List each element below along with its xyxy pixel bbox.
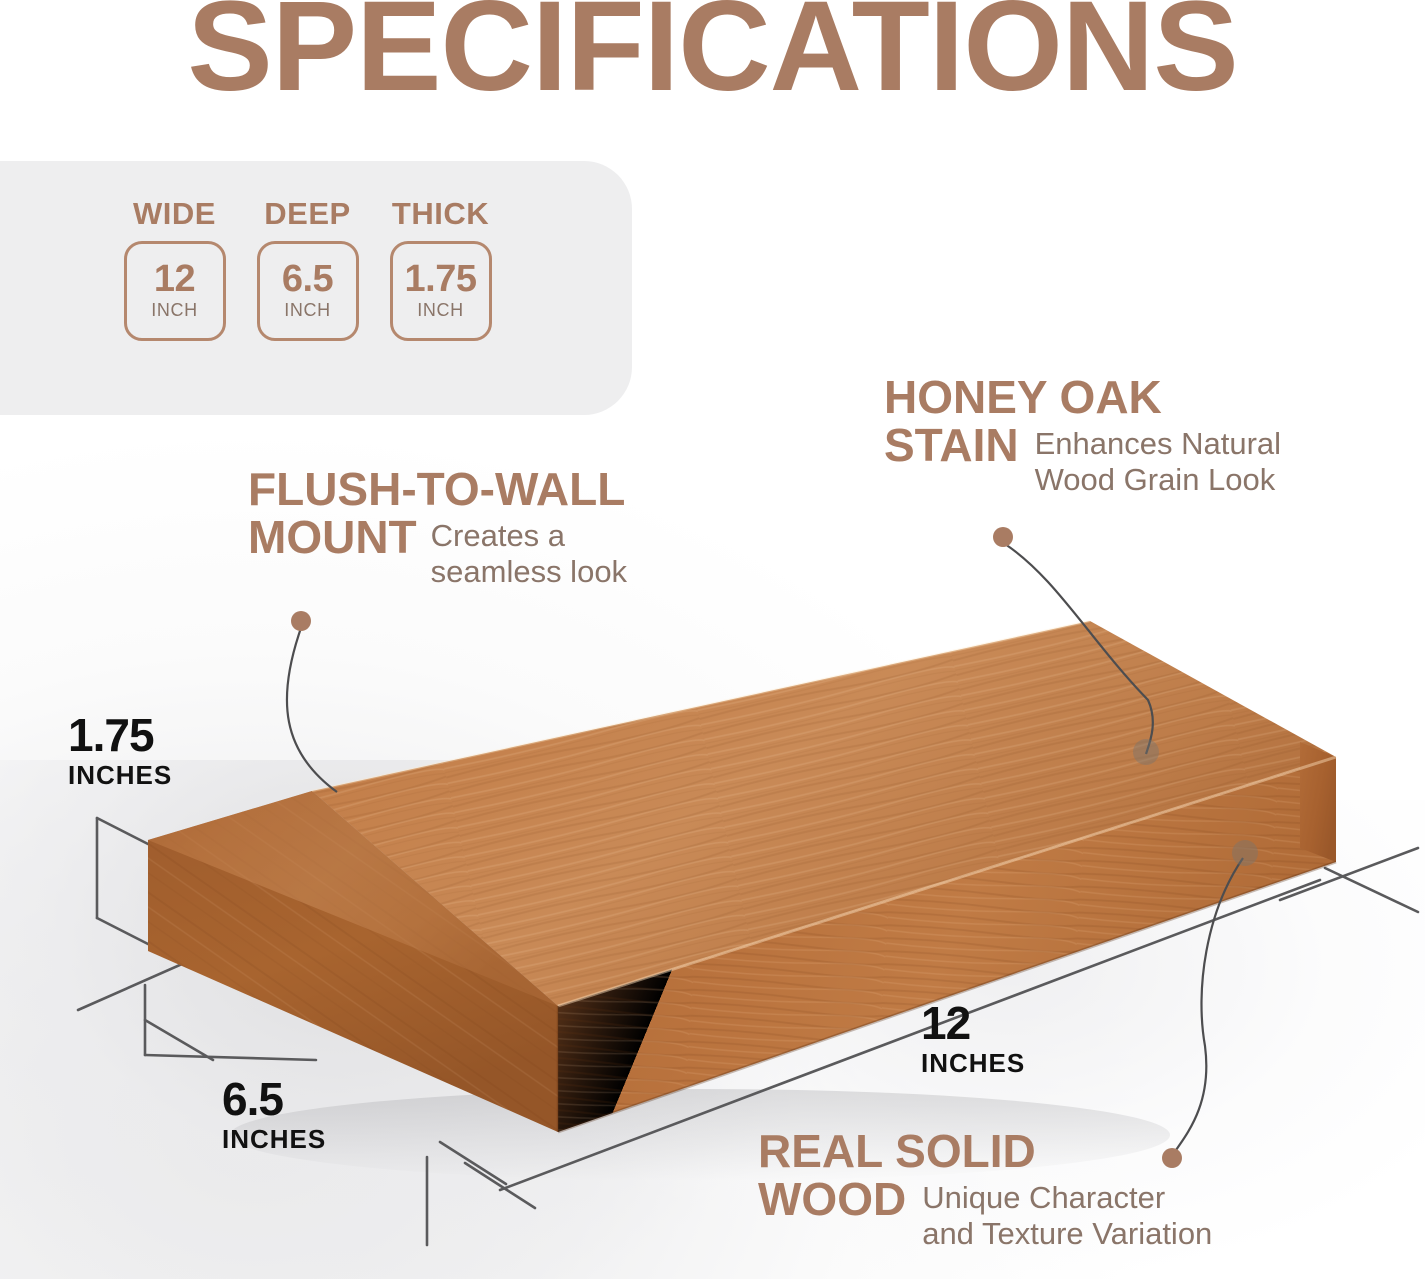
dimension-tick-width-right (1325, 868, 1418, 912)
dimension-tick-thickness-bottom (97, 918, 203, 972)
spec-item-thick: THICK 1.75 INCH (384, 196, 497, 341)
spec-box-wide: 12 INCH (124, 241, 226, 341)
callout-honey-sub-line2: Wood Grain Look (1035, 462, 1276, 497)
dimension-tick-depth-lower-b (145, 1020, 213, 1060)
dimension-unit-width: INCHES (921, 1050, 1025, 1076)
callout-dot-honey (993, 527, 1013, 547)
spec-box-deep: 6.5 INCH (257, 241, 359, 341)
dimension-value-depth: 6.5 (222, 1077, 326, 1122)
specifications-infographic: SPECIFICATIONS WIDE 12 INCH DEEP 6.5 INC… (0, 0, 1425, 1279)
callout-real-title-line1: REAL SOLID (758, 1128, 1425, 1176)
callout-real-sub-line2: and Texture Variation (922, 1216, 1212, 1251)
callout-flush-sub-line2: seamless look (431, 554, 627, 589)
plank-front-arris-highlight (558, 757, 1336, 1006)
dimension-label-width: 12 INCHES (921, 1001, 1025, 1076)
anchor-dot-honey (1133, 739, 1159, 765)
callout-flush-subtitle: Creates a seamless look (431, 514, 627, 590)
callout-real-solid-wood: REAL SOLID WOOD Unique Character and Tex… (758, 1128, 1425, 1252)
spec-item-wide: WIDE 12 INCH (118, 196, 231, 341)
spec-box-thick: 1.75 INCH (390, 241, 492, 341)
plank-left-end-grain (148, 791, 558, 1132)
spec-unit-deep: INCH (284, 300, 330, 321)
dimension-tick-thickness-top (97, 818, 203, 872)
spec-value-deep: 6.5 (282, 261, 333, 297)
spec-item-deep: DEEP 6.5 INCH (251, 196, 364, 341)
callout-real-subtitle: Unique Character and Texture Variation (922, 1176, 1212, 1252)
spec-unit-thick: INCH (417, 300, 463, 321)
dimension-tick-width-left (440, 1142, 506, 1184)
callout-dots (291, 527, 1258, 1168)
spec-value-thick: 1.75 (405, 261, 477, 297)
dimension-tick-depth-upper (78, 934, 250, 1010)
background-wash (0, 760, 840, 1279)
callout-honey-sub-line1: Enhances Natural (1035, 426, 1281, 461)
spec-item-list: WIDE 12 INCH DEEP 6.5 INCH THICK 1.75 IN… (118, 196, 497, 341)
dimension-value-width: 12 (921, 1001, 1025, 1046)
dimension-label-thickness: 1.75 INCHES (68, 713, 172, 788)
page-title: SPECIFICATIONS (0, 0, 1425, 116)
callout-flush-title-line1: FLUSH-TO-WALL (248, 466, 788, 514)
dimension-unit-depth: INCHES (222, 1126, 326, 1152)
callout-flush-sub-line1: Creates a (431, 518, 565, 553)
spec-unit-wide: INCH (151, 300, 197, 321)
callout-honey-subtitle: Enhances Natural Wood Grain Look (1035, 422, 1281, 498)
leader-line-real (1176, 858, 1243, 1150)
dimension-unit-thickness: INCHES (68, 762, 172, 788)
anchor-dot-real (1232, 840, 1258, 866)
dimension-label-depth: 6.5 INCHES (222, 1077, 326, 1152)
callout-real-sub-line1: Unique Character (922, 1180, 1165, 1215)
callout-honey-title-line1: HONEY OAK (884, 374, 1425, 422)
plank-left-end-face (148, 791, 558, 1132)
callout-real-title-line2: WOOD (758, 1176, 906, 1224)
leader-line-flush (287, 628, 337, 792)
dimension-value-thickness: 1.75 (68, 713, 172, 758)
callout-flush-to-wall-mount: FLUSH-TO-WALL MOUNT Creates a seamless l… (248, 466, 788, 590)
callout-leaders (287, 544, 1243, 1150)
dimension-tick-depth-right (465, 1163, 535, 1208)
spec-label-wide: WIDE (133, 196, 216, 232)
leader-line-honey (1005, 544, 1153, 754)
spec-label-thick: THICK (392, 196, 489, 232)
dimension-tick-width-right-b (1280, 848, 1418, 900)
callout-honey-oak-stain: HONEY OAK STAIN Enhances Natural Wood Gr… (884, 374, 1425, 498)
spec-label-deep: DEEP (264, 196, 350, 232)
callout-honey-title-line2: STAIN (884, 422, 1019, 470)
plank-top-grain (312, 621, 1336, 1006)
wood-plank (148, 621, 1336, 1132)
callout-flush-title-line2: MOUNT (248, 514, 417, 562)
plank-right-end-face (1300, 742, 1336, 862)
plank-left-top-sliver (148, 791, 558, 1006)
plank-top-face (312, 621, 1336, 1006)
spec-value-wide: 12 (154, 261, 195, 297)
callout-dot-flush (291, 611, 311, 631)
dimension-tick-depth-lower-a (145, 1055, 316, 1060)
plank-back-arris-highlight (312, 621, 1090, 791)
